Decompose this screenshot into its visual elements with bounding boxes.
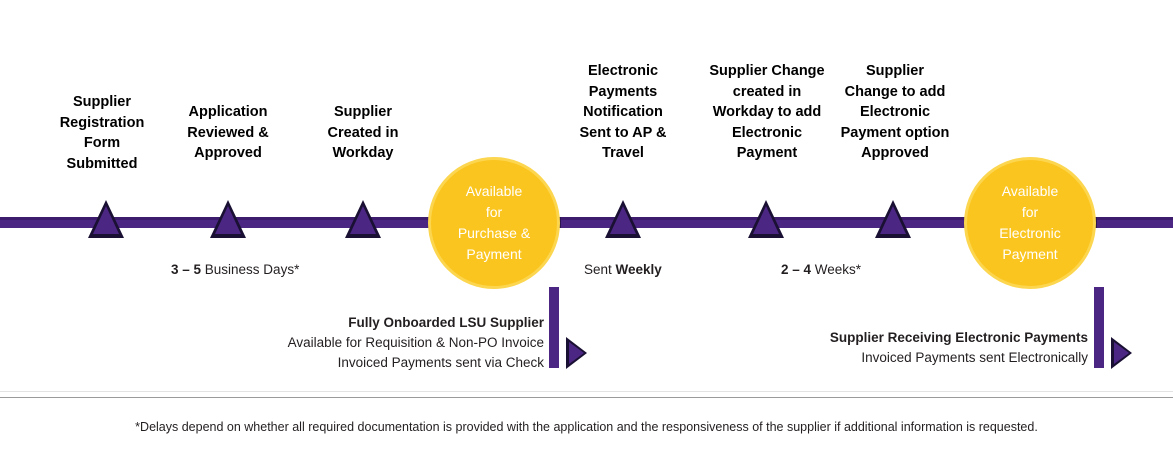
- milestone-marker-registration-form: [88, 200, 124, 238]
- duration-label-business-days: 3 – 5 Business Days*: [171, 262, 299, 277]
- step-label-supplier-created: Supplier Created in Workday: [297, 102, 429, 164]
- duration-label-weeks: 2 – 4 Weeks*: [781, 262, 861, 277]
- step-label-epayments-notification: Electronic Payments Notification Sent to…: [557, 61, 689, 164]
- callout-bar-electronic-payments: [1094, 287, 1104, 368]
- duration-value-sent-weekly: Weekly: [616, 262, 662, 277]
- milestone-marker-supplier-created: [345, 200, 381, 238]
- step-label-application-reviewed: Application Reviewed & Approved: [162, 102, 294, 164]
- callout-arrow-electronic-payments: [1111, 337, 1132, 369]
- footer-divider: [0, 397, 1173, 398]
- callout-arrow-fully-onboarded: [566, 337, 587, 369]
- callout-line1-electronic-payments: Invoiced Payments sent Electronically: [775, 348, 1088, 368]
- state-circle-label-purchase-payment: Available for Purchase & Payment: [458, 181, 530, 265]
- callout-line1-fully-onboarded: Available for Requisition & Non-PO Invoi…: [239, 333, 544, 353]
- duration-value-business-days: 3 – 5: [171, 262, 201, 277]
- duration-label-sent-weekly: Sent Weekly: [584, 262, 662, 277]
- state-circle-label-electronic-payment: Available for Electronic Payment: [999, 181, 1060, 265]
- duration-unit-business-days: Business Days*: [201, 262, 299, 277]
- milestone-marker-supplier-change-approved: [875, 200, 911, 238]
- duration-unit-weeks: Weeks*: [811, 262, 861, 277]
- milestone-marker-supplier-change-created: [748, 200, 784, 238]
- callout-bar-fully-onboarded: [549, 287, 559, 368]
- milestone-marker-epayments-notification: [605, 200, 641, 238]
- milestone-marker-application-reviewed: [210, 200, 246, 238]
- duration-value-weeks: 2 – 4: [781, 262, 811, 277]
- step-label-registration-form: Supplier Registration Form Submitted: [36, 92, 168, 174]
- duration-lead-sent-weekly: Sent: [584, 262, 616, 277]
- footnote-text: *Delays depend on whether all required d…: [0, 420, 1173, 434]
- callout-title-fully-onboarded: Fully Onboarded LSU Supplier: [239, 313, 544, 333]
- state-circle-available-electronic-payment: Available for Electronic Payment: [964, 157, 1096, 289]
- callout-electronic-payments: Supplier Receiving Electronic Payments I…: [775, 328, 1088, 368]
- step-label-supplier-change-approved: Supplier Change to add Electronic Paymen…: [827, 61, 963, 164]
- state-circle-available-purchase-payment: Available for Purchase & Payment: [428, 157, 560, 289]
- callout-fully-onboarded: Fully Onboarded LSU Supplier Available f…: [239, 313, 544, 373]
- supplier-onboarding-timeline-diagram: Supplier Registration Form Submitted App…: [0, 0, 1173, 463]
- callout-line2-fully-onboarded: Invoiced Payments sent via Check: [239, 353, 544, 373]
- step-label-supplier-change-created: Supplier Change created in Workday to ad…: [697, 61, 837, 164]
- callout-title-electronic-payments: Supplier Receiving Electronic Payments: [775, 328, 1088, 348]
- footer-divider-soft: [0, 391, 1173, 392]
